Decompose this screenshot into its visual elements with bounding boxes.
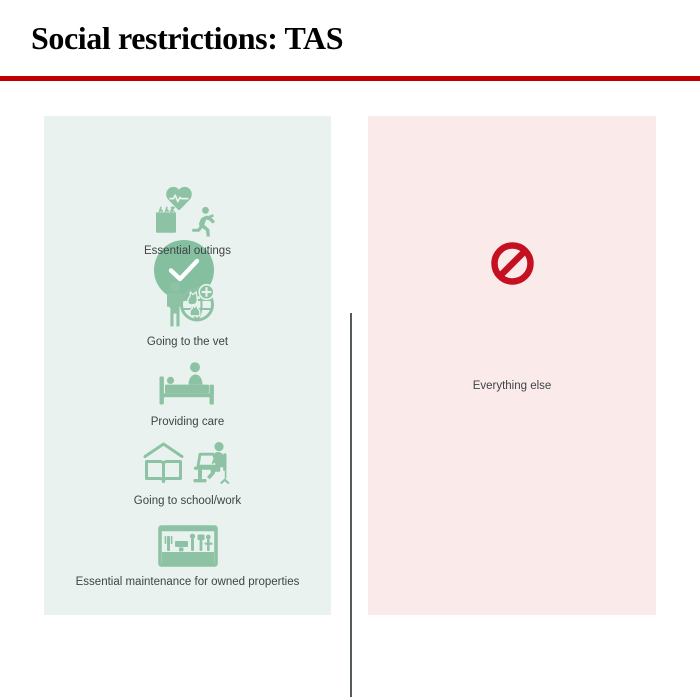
panels-container: Essential outings: [0, 116, 700, 615]
banned-label: Everything else: [368, 377, 656, 396]
prohibition-icon: [490, 241, 535, 286]
school-work-icon: [44, 435, 331, 487]
header-rule: [0, 76, 700, 81]
essential-outings-icon: [44, 185, 331, 237]
allowed-item-label: Going to the vet: [44, 333, 331, 352]
infographic-page: Social restrictions: TAS: [0, 0, 700, 659]
banned-panel: [368, 116, 656, 615]
allowed-item-label: Essential outings: [44, 242, 331, 261]
allowed-item-label: Essential maintenance for owned properti…: [44, 573, 331, 592]
page-title: Social restrictions: TAS: [31, 20, 343, 57]
providing-care-icon: [44, 356, 331, 408]
allowed-item-providing-care: Providing care: [44, 356, 331, 432]
allowed-item-label: Going to school/work: [44, 492, 331, 511]
vet-icon: [44, 276, 331, 328]
allowed-item-school-work: Going to school/work: [44, 435, 331, 511]
panel-divider: [350, 313, 352, 697]
toolbox-icon: [44, 516, 331, 568]
allowed-item-vet: Going to the vet: [44, 276, 331, 352]
allowed-item-essential-outings: Essential outings: [44, 185, 331, 261]
allowed-item-label: Providing care: [44, 413, 331, 432]
allowed-item-maintenance: Essential maintenance for owned properti…: [44, 516, 331, 592]
